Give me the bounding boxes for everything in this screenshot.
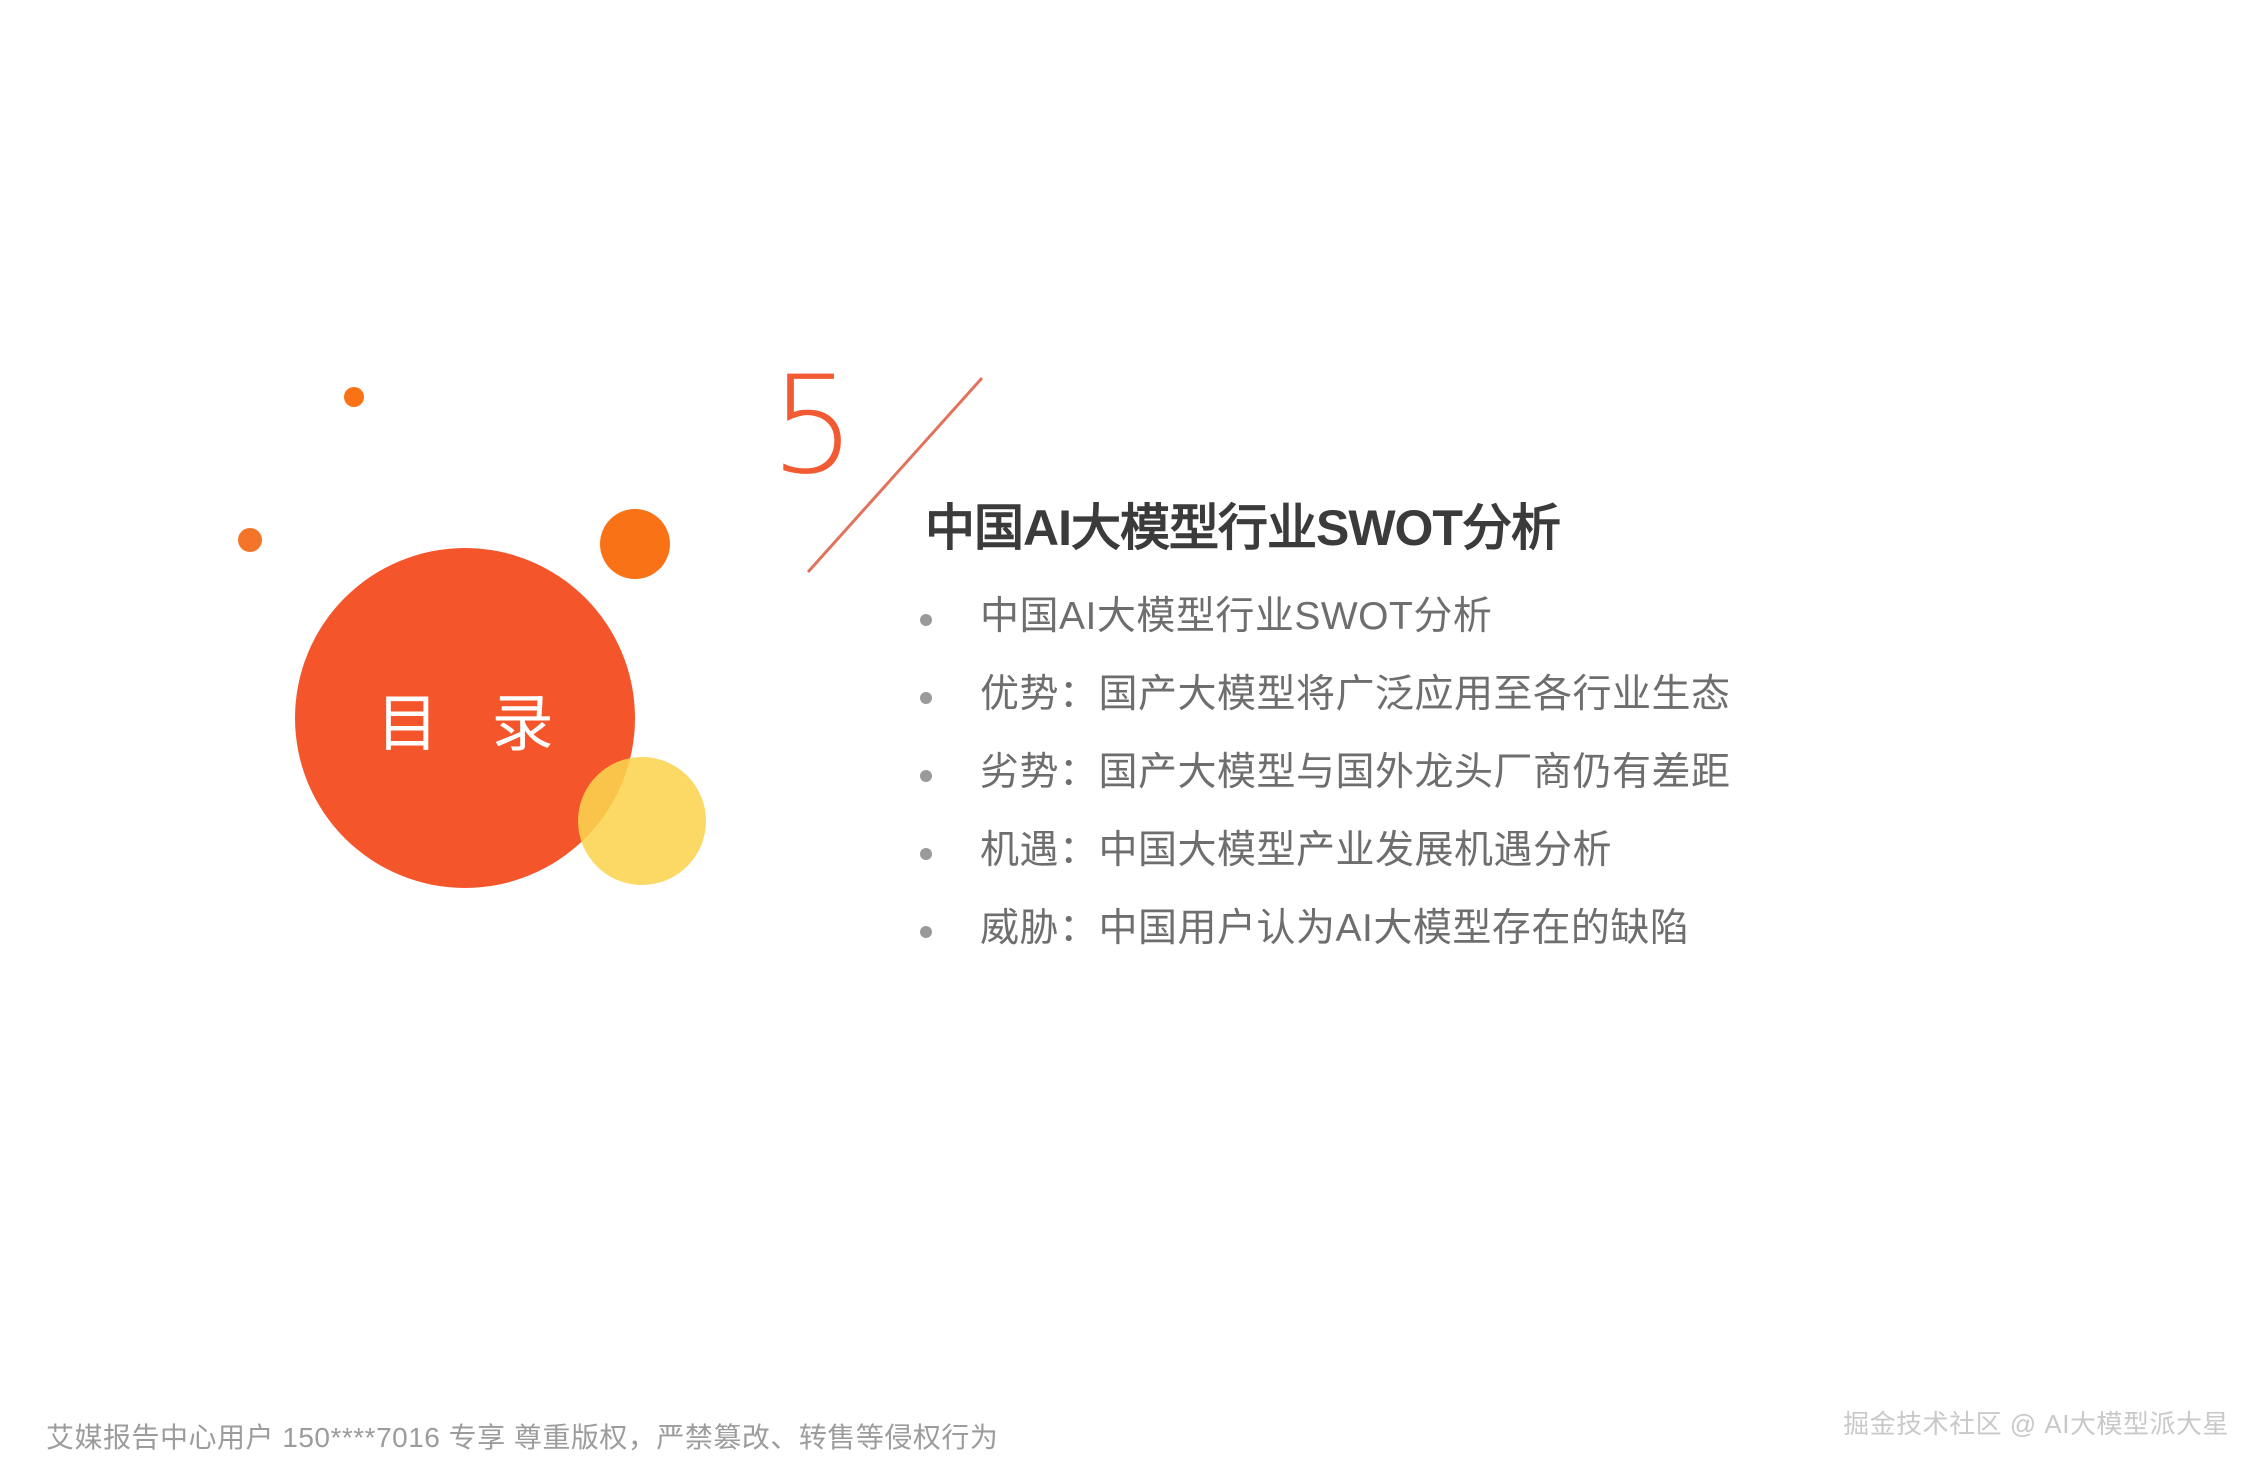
bullet-dot-icon [920, 848, 932, 860]
small-dot-icon-left [238, 528, 262, 552]
list-item[interactable]: 机遇：中国大模型产业发展机遇分析 [920, 826, 2120, 904]
bullet-dot-icon [920, 692, 932, 704]
list-item[interactable]: 优势：国产大模型将广泛应用至各行业生态 [920, 670, 2120, 748]
copyright-footer: 艾媒报告中心用户 150****7016 专享 尊重版权，严禁篡改、转售等侵权行… [46, 1416, 998, 1456]
list-item-label: 劣势：国产大模型与国外龙头厂商仍有差距 [980, 748, 1731, 798]
watermark: 掘金技术社区 @ AI大模型派大星 [1843, 1404, 2229, 1441]
list-item[interactable]: 劣势：国产大模型与国外龙头厂商仍有差距 [920, 748, 2120, 826]
bullet-dot-icon [920, 614, 932, 626]
slide-canvas: 目 录 5 中国AI大模型行业SWOT分析 中国AI大模型行业SWOT分析 优势… [0, 0, 2267, 1474]
list-item-label: 机遇：中国大模型产业发展机遇分析 [980, 826, 1612, 876]
bullet-dot-icon [920, 770, 932, 782]
list-item-label: 中国AI大模型行业SWOT分析 [980, 592, 1492, 642]
list-item[interactable]: 威胁：中国用户认为AI大模型存在的缺陷 [920, 904, 2120, 982]
list-item-label: 优势：国产大模型将广泛应用至各行业生态 [980, 670, 1731, 720]
page-title: 中国AI大模型行业SWOT分析 [925, 488, 1560, 560]
small-dot-icon-top [344, 387, 364, 407]
agenda-list: 中国AI大模型行业SWOT分析 优势：国产大模型将广泛应用至各行业生态 劣势：国… [920, 592, 2120, 982]
decorative-circle-cluster: 目 录 [0, 0, 760, 1000]
bullet-dot-icon [920, 926, 932, 938]
table-of-contents-label: 目 录 [295, 548, 635, 888]
list-item-label: 威胁：中国用户认为AI大模型存在的缺陷 [980, 904, 1689, 954]
list-item[interactable]: 中国AI大模型行业SWOT分析 [920, 592, 2120, 670]
